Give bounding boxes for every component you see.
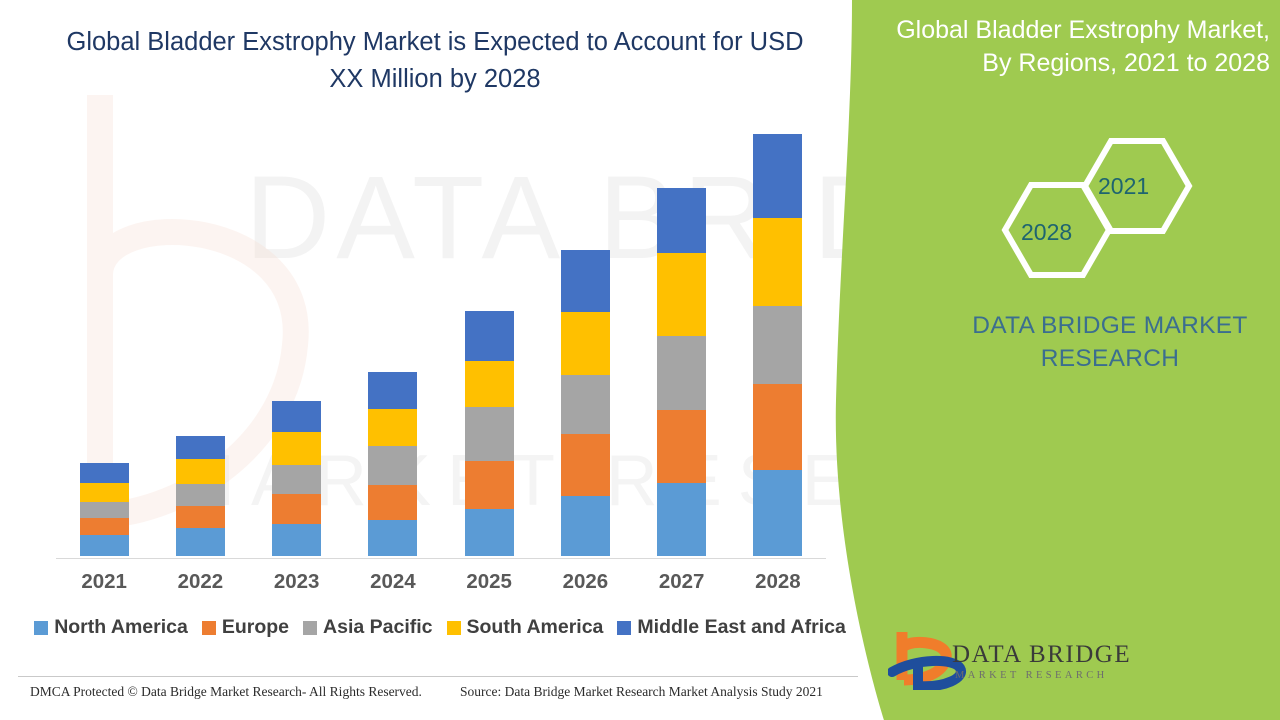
bar-segment [176, 506, 225, 529]
bar-segment [80, 483, 129, 503]
bar-segment [80, 502, 129, 518]
x-axis-line [56, 558, 826, 559]
bar-segment [80, 518, 129, 535]
bar-segment [272, 432, 321, 465]
x-axis-label: 2026 [537, 570, 633, 594]
bar-segment [561, 312, 610, 375]
page-title: Global Bladder Exstrophy Market is Expec… [60, 24, 810, 98]
panel-brand-name: DATA BRIDGE MARKET RESEARCH [960, 309, 1260, 375]
infographic-canvas: DATA BRIDGE MARKET RESEARCH Global Bladd… [0, 0, 1280, 720]
legend-swatch-icon [202, 621, 216, 635]
x-axis-label: 2022 [152, 570, 248, 594]
footer-source: Source: Data Bridge Market Research Mark… [460, 684, 823, 700]
bar-segment [561, 434, 610, 496]
x-axis-label: 2024 [345, 570, 441, 594]
legend-swatch-icon [617, 621, 631, 635]
bar-segment [753, 134, 802, 218]
logo-name-main: DATA BRIDGE [952, 641, 1131, 669]
bar-segment [753, 306, 802, 384]
legend-label: Middle East and Africa [637, 616, 845, 639]
legend-label: North America [54, 616, 188, 639]
bar-segment [561, 496, 610, 556]
bar-column [176, 436, 225, 556]
legend-item[interactable]: North America [34, 616, 188, 639]
x-axis-label: 2021 [56, 570, 152, 594]
bar-segment [272, 524, 321, 556]
legend-item[interactable]: Middle East and Africa [617, 616, 845, 639]
bar-segment [753, 218, 802, 306]
bar-segment [465, 361, 514, 407]
bar-segment [272, 401, 321, 432]
legend-label: Asia Pacific [323, 616, 432, 639]
bar-segment [753, 470, 802, 556]
bar-column [80, 463, 129, 556]
bar-segment [753, 384, 802, 470]
bar-segment [272, 494, 321, 524]
x-axis-label: 2023 [249, 570, 345, 594]
logo-name-sub: MARKET RESEARCH [955, 670, 1108, 681]
bar-column [368, 372, 417, 556]
bar-segment [561, 375, 610, 435]
bar-column [465, 311, 514, 557]
bar-segment [368, 409, 417, 446]
hexagon-group [975, 130, 1205, 295]
panel-title: Global Bladder Exstrophy Market, By Regi… [895, 14, 1270, 80]
bar-segment [657, 483, 706, 556]
bar-segment [465, 461, 514, 509]
bar-segment [368, 446, 417, 485]
bar-column [561, 250, 610, 556]
x-axis-label: 2027 [634, 570, 730, 594]
bar-column [657, 188, 706, 556]
footer-copyright: DMCA Protected © Data Bridge Market Rese… [30, 684, 422, 700]
bar-segment [176, 484, 225, 506]
legend-item[interactable]: South America [447, 616, 604, 639]
bar-segment [176, 436, 225, 459]
footer-divider [18, 676, 858, 677]
x-axis-label: 2025 [441, 570, 537, 594]
bar-segment [176, 528, 225, 556]
bar-segment [657, 410, 706, 482]
bar-segment [80, 463, 129, 483]
bar-segment [465, 407, 514, 461]
legend-swatch-icon [303, 621, 317, 635]
legend-label: South America [467, 616, 604, 639]
bar-segment [368, 485, 417, 521]
legend-item[interactable]: Europe [202, 616, 289, 639]
bar-segment [561, 250, 610, 312]
chart-plot-area [56, 120, 826, 558]
legend-swatch-icon [447, 621, 461, 635]
x-axis-tick-labels: 20212022202320242025202620272028 [56, 570, 826, 600]
legend-label: Europe [222, 616, 289, 639]
bar-segment [176, 459, 225, 484]
legend-swatch-icon [34, 621, 48, 635]
bar-segment [368, 520, 417, 556]
bar-segment [368, 372, 417, 409]
bar-column [272, 401, 321, 556]
hexagon-label-2028: 2028 [1021, 219, 1072, 246]
stacked-bar-chart [56, 120, 826, 560]
bar-segment [657, 253, 706, 336]
bar-segment [657, 336, 706, 411]
bar-column [753, 134, 802, 556]
bar-segment [465, 509, 514, 556]
bar-segment [657, 188, 706, 253]
legend-item[interactable]: Asia Pacific [303, 616, 432, 639]
chart-legend: North AmericaEuropeAsia PacificSouth Ame… [50, 616, 830, 639]
bar-segment [465, 311, 514, 361]
bar-segment [80, 535, 129, 556]
hexagon-label-2021: 2021 [1098, 173, 1149, 200]
bar-segment [272, 465, 321, 494]
x-axis-label: 2028 [730, 570, 826, 594]
